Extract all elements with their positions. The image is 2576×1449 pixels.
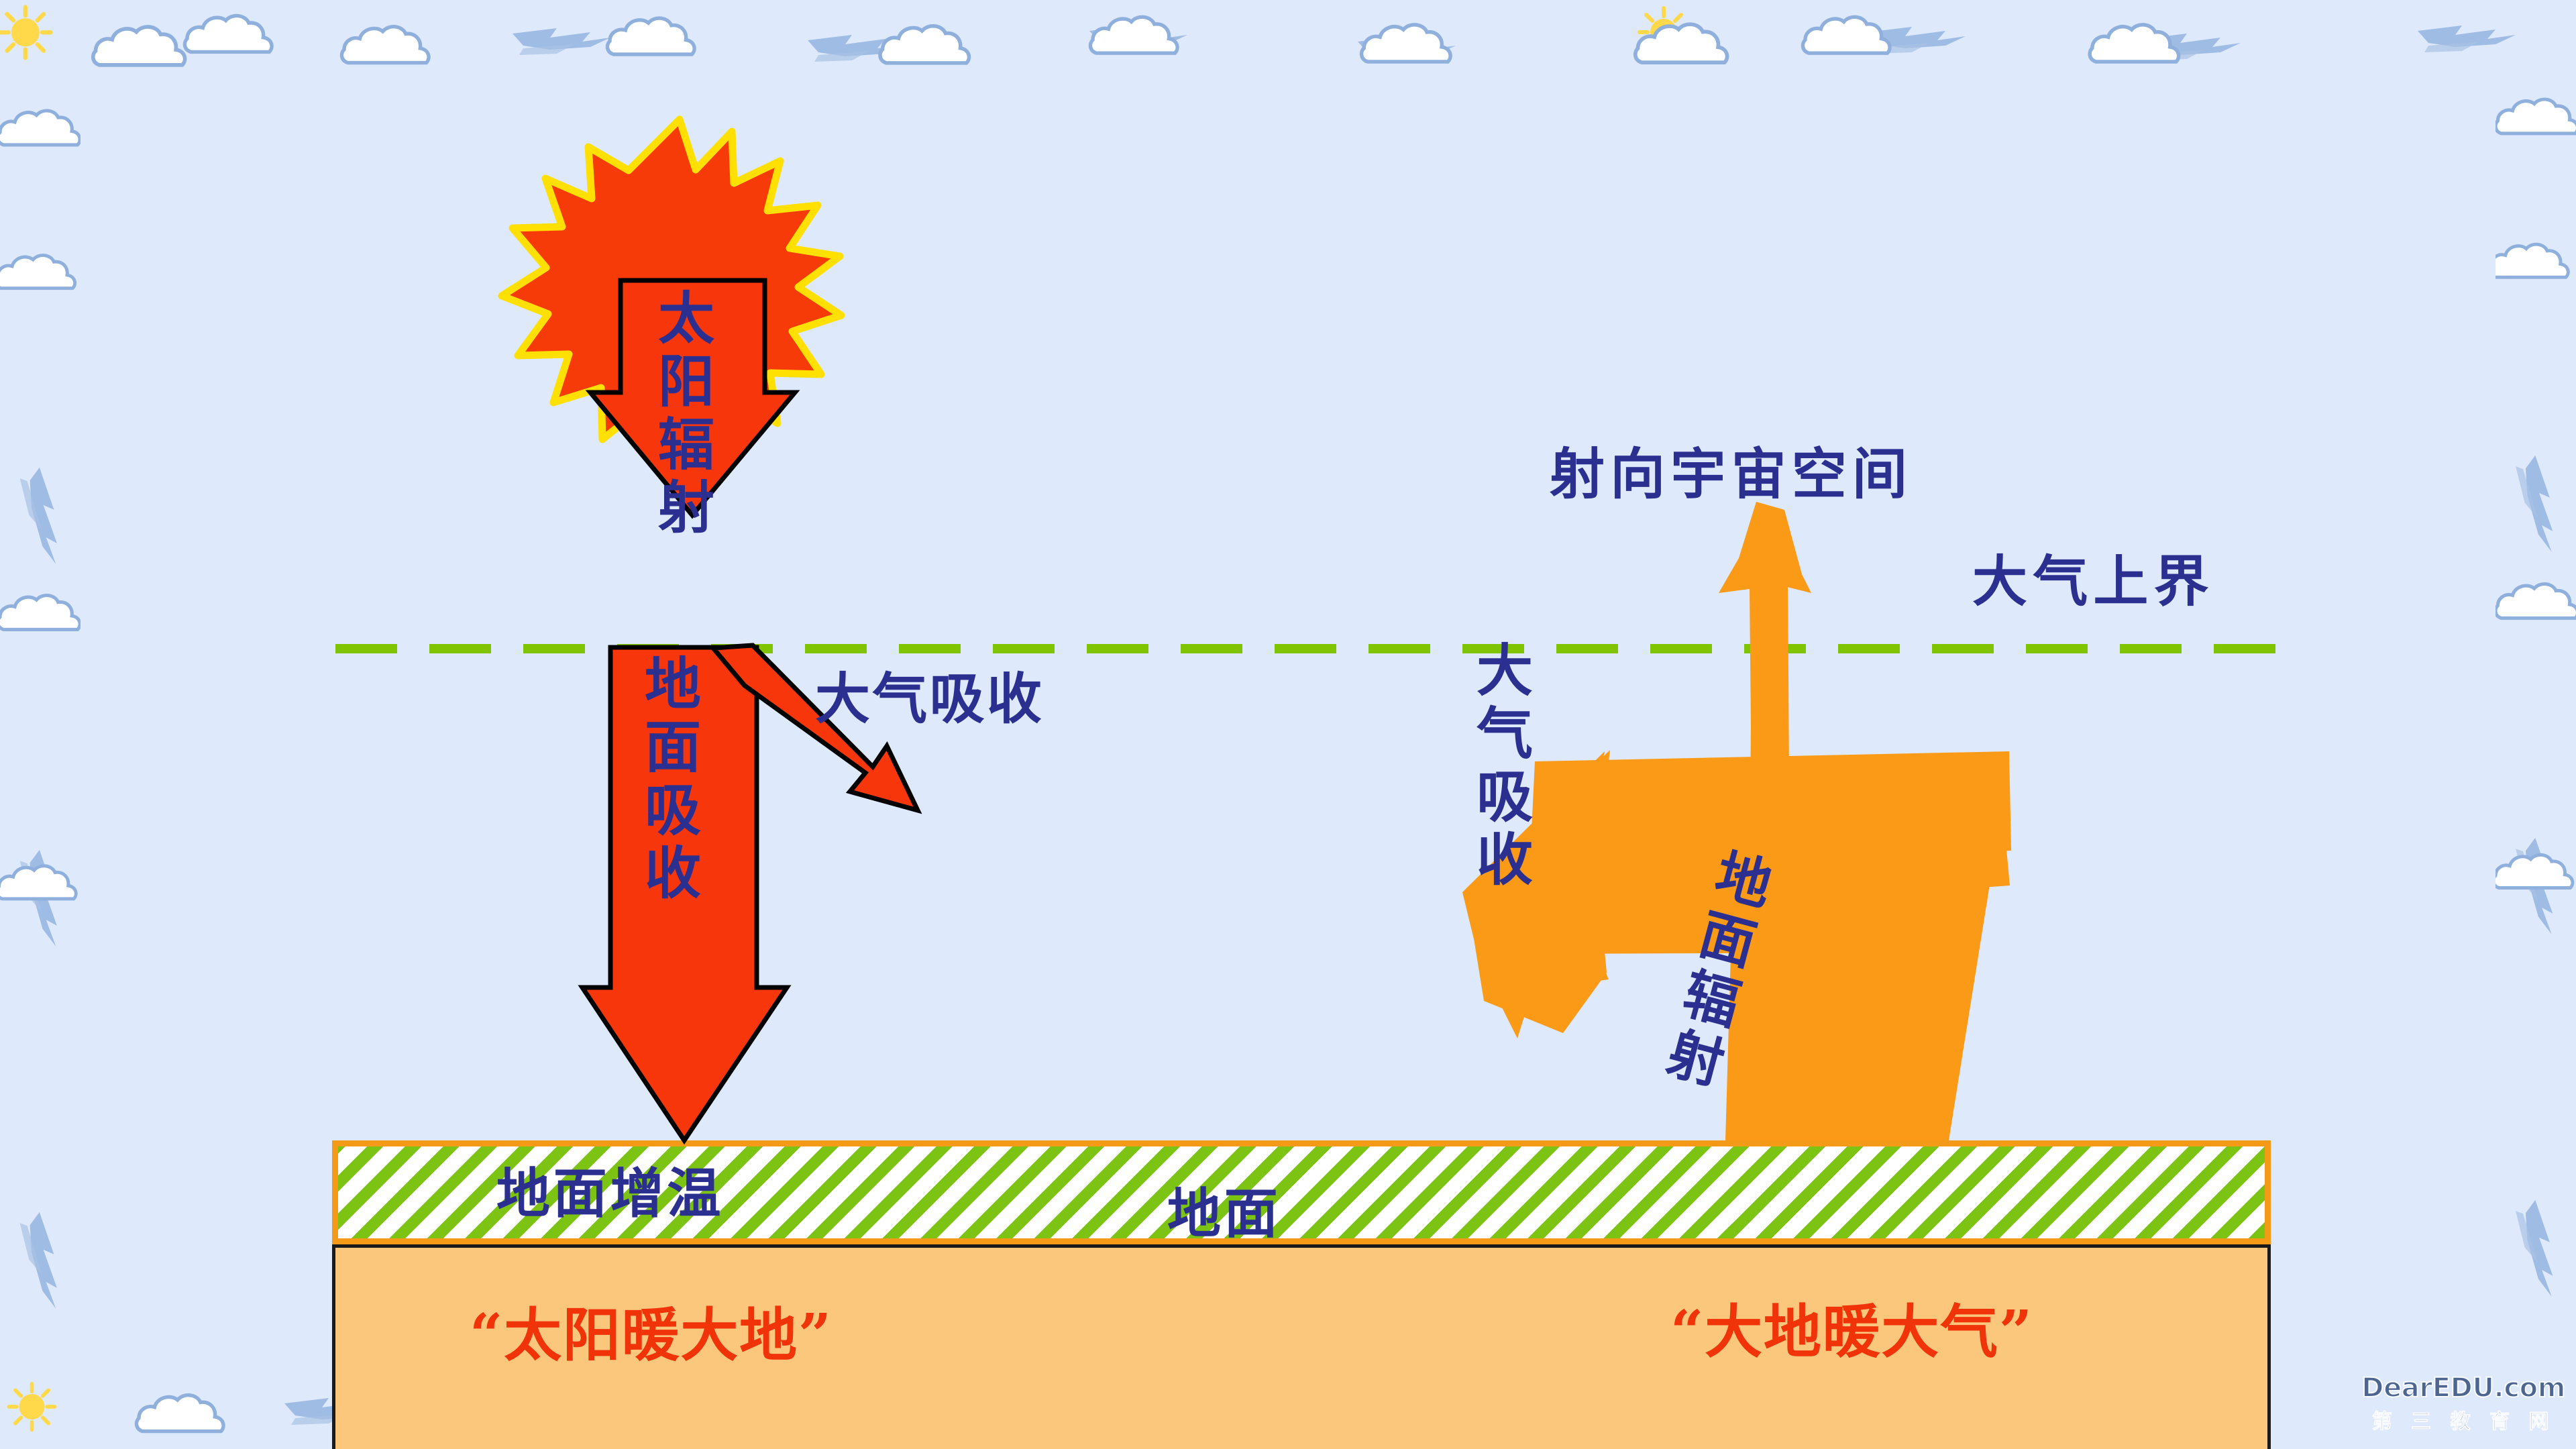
- ground-absorption-arrow-label: 地面吸收: [634, 654, 702, 906]
- atmosphere-absorption-arrow-label: 大气吸收: [1466, 641, 1534, 893]
- atmosphere-absorption-label-left: 大气吸收: [815, 654, 1044, 734]
- ground-surface-label: 地面: [1167, 1171, 1281, 1248]
- watermark: DearEDU.com 第 三 教 育 网: [2361, 1373, 2565, 1434]
- caption-earth-warms-atmosphere: “大地暖大气”: [1670, 1285, 2033, 1368]
- watermark-site: DearEDU.com: [2361, 1373, 2565, 1403]
- caption-sun-warms-earth: “太阳暖大地”: [470, 1288, 833, 1372]
- solar-radiation-arrow-label: 太阳辐射: [647, 288, 716, 541]
- watermark-name: 第 三 教 育 网: [2361, 1405, 2565, 1434]
- diagram-canvas: 太阳辐射 地面吸收 大气吸收 射向宇宙空间 大气上界 大气吸收 地面辐射 地面 …: [0, 0, 2576, 1449]
- arrow-layer-front: [0, 0, 2576, 1449]
- atmosphere-upper-boundary-label: 大气上界: [1972, 537, 2214, 616]
- ground-warming-label: 地面增温: [496, 1150, 724, 1228]
- space-emission-label: 射向宇宙空间: [1550, 429, 1913, 509]
